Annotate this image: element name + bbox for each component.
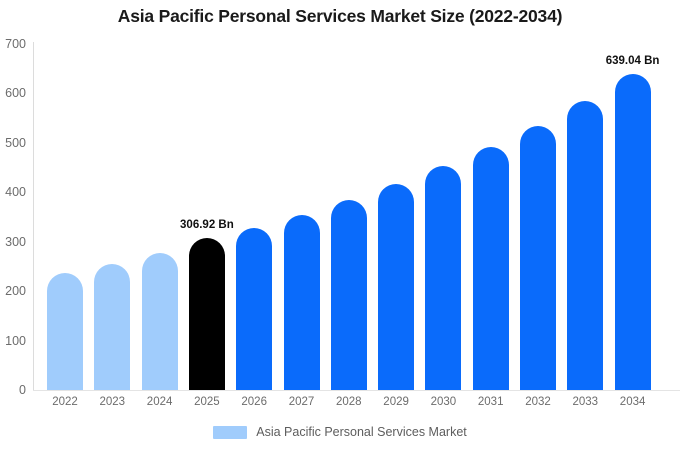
bar-column[interactable] (331, 44, 367, 390)
bar-column[interactable] (520, 44, 556, 390)
y-axis-tick: 300 (5, 235, 26, 249)
x-axis-tick-2026: 2026 (236, 396, 272, 408)
bar-column[interactable]: 639.04 Bn (615, 44, 651, 390)
y-axis-tick: 200 (5, 284, 26, 298)
bar-value-label: 306.92 Bn (180, 219, 234, 231)
bar-series: 306.92 Bn639.04 Bn (33, 44, 680, 390)
y-axis-tick: 600 (5, 86, 26, 100)
x-axis-tick-2025: 2025 (189, 396, 225, 408)
bar-2032[interactable] (520, 126, 556, 390)
bar-2024[interactable] (142, 253, 178, 390)
bar-column[interactable] (142, 44, 178, 390)
x-axis-tick-2028: 2028 (331, 396, 367, 408)
bar-column[interactable] (473, 44, 509, 390)
bar-2034[interactable] (615, 74, 651, 390)
bar-2025[interactable] (189, 238, 225, 390)
bar-column[interactable] (284, 44, 320, 390)
bar-2033[interactable] (567, 101, 603, 390)
y-axis-tick: 0 (19, 383, 26, 397)
x-axis-tick-2032: 2032 (520, 396, 556, 408)
x-axis-tick-2031: 2031 (473, 396, 509, 408)
legend-swatch-icon (213, 426, 247, 439)
x-axis-tick-2030: 2030 (425, 396, 461, 408)
legend-label: Asia Pacific Personal Services Market (256, 425, 467, 439)
x-axis-tick-2023: 2023 (94, 396, 130, 408)
bar-column[interactable]: 306.92 Bn (189, 44, 225, 390)
bar-column[interactable] (425, 44, 461, 390)
x-axis-tick-2033: 2033 (567, 396, 603, 408)
bar-2026[interactable] (236, 228, 272, 390)
chart-container: Asia Pacific Personal Services Market Si… (0, 0, 680, 450)
y-axis-tick: 100 (5, 334, 26, 348)
x-axis-line (33, 390, 680, 391)
x-axis-tick-2034: 2034 (615, 396, 651, 408)
y-axis-tick: 700 (5, 37, 26, 51)
bar-column[interactable] (236, 44, 272, 390)
bar-2030[interactable] (425, 166, 461, 390)
x-axis-tick-2027: 2027 (284, 396, 320, 408)
bar-2031[interactable] (473, 147, 509, 390)
chart-legend: Asia Pacific Personal Services Market (0, 425, 680, 439)
bar-value-label: 639.04 Bn (606, 55, 660, 67)
plot-area: 0100200300400500600700 306.92 Bn639.04 B… (33, 44, 680, 390)
bar-column[interactable] (567, 44, 603, 390)
x-axis-tick-2029: 2029 (378, 396, 414, 408)
y-axis-tick: 400 (5, 185, 26, 199)
x-axis-tick-2022: 2022 (47, 396, 83, 408)
bar-2029[interactable] (378, 184, 414, 390)
bar-column[interactable] (378, 44, 414, 390)
bar-2028[interactable] (331, 200, 367, 390)
bar-column[interactable] (94, 44, 130, 390)
y-axis-tick: 500 (5, 136, 26, 150)
x-axis-tick-2024: 2024 (142, 396, 178, 408)
bar-2023[interactable] (94, 264, 130, 390)
bar-column[interactable] (47, 44, 83, 390)
bar-2022[interactable] (47, 273, 83, 390)
chart-title: Asia Pacific Personal Services Market Si… (0, 6, 680, 27)
bar-2027[interactable] (284, 215, 320, 390)
